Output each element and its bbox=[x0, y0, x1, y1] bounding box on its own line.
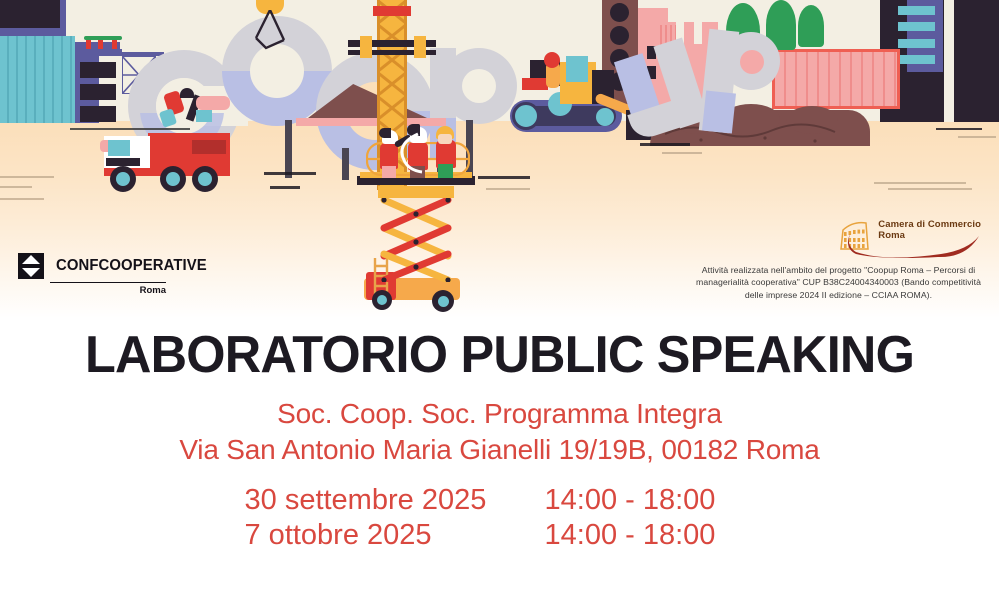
truck-window bbox=[108, 140, 130, 156]
ground-dash-1 bbox=[70, 128, 190, 130]
container-slot-3 bbox=[80, 106, 116, 122]
ground-dash-6 bbox=[640, 143, 690, 146]
ground-dash-8 bbox=[936, 128, 982, 130]
confcooperative-logo-row: CONFCOOPERATIVE bbox=[18, 253, 168, 279]
worker-in-c-box bbox=[196, 110, 212, 122]
camera-commercio-block: Camera di Commercio Roma Attività realiz… bbox=[696, 218, 981, 301]
porthole-2 bbox=[610, 26, 629, 45]
excavator-hood bbox=[566, 56, 588, 82]
truck-bed-detail bbox=[192, 140, 226, 154]
worker-3-face bbox=[438, 134, 452, 144]
confcooperative-sub: Roma bbox=[50, 285, 166, 296]
lift-wheel-rear-hub bbox=[438, 296, 449, 307]
session-time: 14:00 - 18:00 bbox=[545, 484, 755, 517]
truck-wheel-1-hub bbox=[116, 172, 130, 186]
truck-wheel-3-hub bbox=[198, 172, 212, 186]
ground-dash-2 bbox=[264, 172, 316, 175]
container-slot-2 bbox=[80, 84, 116, 100]
operator-head bbox=[544, 52, 560, 68]
letter-o1-hole bbox=[250, 44, 304, 98]
ground-dash-13 bbox=[0, 186, 32, 188]
confcooperative-name: CONFCOOPERATIVE bbox=[56, 257, 207, 275]
container-wall-teal bbox=[0, 36, 75, 123]
camera-commercio-swoosh-icon bbox=[846, 234, 981, 258]
truck-wheel-2-hub bbox=[166, 172, 180, 186]
worker-3-legs bbox=[438, 164, 453, 178]
project-disclaimer: Attività realizzata nell'ambito del prog… bbox=[696, 264, 981, 301]
venue-line-1: Soc. Coop. Soc. Programma Integra bbox=[0, 396, 999, 432]
excavator-wheel-big bbox=[512, 102, 540, 130]
excavator-wheel-small bbox=[596, 108, 614, 126]
letter-post-2 bbox=[342, 148, 349, 180]
crane-jib-block2 bbox=[414, 36, 426, 58]
logo-rule bbox=[50, 282, 166, 283]
ground-dash-7 bbox=[662, 152, 702, 154]
skyline-balcony-1 bbox=[898, 6, 935, 15]
letter-p-up-shade bbox=[702, 91, 736, 134]
worker-in-c-arm bbox=[196, 96, 230, 110]
ground-dash-5 bbox=[486, 188, 530, 190]
ground-dash-12 bbox=[0, 176, 54, 178]
session-time: 14:00 - 18:00 bbox=[545, 519, 755, 552]
schedule-block: 30 settembre 2025 14:00 - 18:00 7 ottobr… bbox=[0, 484, 999, 552]
lift-platform-base bbox=[378, 186, 454, 198]
warehouse-facade-dark bbox=[0, 3, 62, 28]
crane-collar-red bbox=[373, 6, 411, 16]
page-title: LABORATORIO PUBLIC SPEAKING bbox=[15, 325, 984, 385]
ground-dash-4 bbox=[478, 176, 530, 179]
pink-wall-right bbox=[772, 49, 900, 109]
scissor-mechanism-icon bbox=[378, 196, 454, 282]
letter-p-bowl-hole bbox=[462, 69, 496, 103]
skyline-balcony-4 bbox=[898, 55, 935, 64]
warehouse-edge bbox=[60, 0, 66, 32]
confcooperative-logo: CONFCOOPERATIVE Roma bbox=[18, 253, 168, 296]
worker-in-c-helmet bbox=[180, 88, 194, 98]
crane-sling-icon bbox=[250, 10, 306, 50]
ground-dash-11 bbox=[888, 188, 972, 190]
worker-1-hair bbox=[379, 128, 391, 138]
worker-2-hose-icon bbox=[392, 132, 426, 176]
excavator-seat bbox=[522, 78, 548, 90]
truck-accent bbox=[100, 140, 108, 152]
dirt-hill-base bbox=[296, 118, 446, 126]
letter-p-up-hole bbox=[740, 50, 764, 74]
ledge-base bbox=[80, 49, 122, 55]
porthole-1 bbox=[610, 3, 629, 22]
crane-jib-block bbox=[360, 36, 372, 58]
skyline-balcony-3 bbox=[898, 39, 935, 48]
container-slot-1 bbox=[80, 62, 116, 78]
truck-grille bbox=[106, 158, 140, 166]
lift-wheel-front-hub bbox=[377, 295, 387, 305]
session-date: 30 settembre 2025 bbox=[245, 484, 545, 517]
skyline-balcony-2 bbox=[898, 22, 935, 31]
session-date: 7 ottobre 2025 bbox=[245, 519, 545, 552]
venue-line-2: Via San Antonio Maria Gianelli 19/19B, 0… bbox=[0, 432, 999, 468]
venue-block: Soc. Coop. Soc. Programma Integra Via Sa… bbox=[0, 396, 999, 468]
pink-tower-notch-2 bbox=[694, 22, 702, 44]
ground-dash-9 bbox=[958, 136, 996, 138]
tree-right-3 bbox=[798, 5, 824, 47]
ground-dash-3 bbox=[270, 186, 300, 189]
schedule-grid: 30 settembre 2025 14:00 - 18:00 7 ottobr… bbox=[245, 484, 755, 552]
ground-dash-10 bbox=[874, 182, 966, 184]
skyline-gap-right bbox=[944, 0, 954, 122]
ground-dash-14 bbox=[0, 198, 44, 200]
confcooperative-mark-icon bbox=[18, 253, 44, 279]
letter-post-1 bbox=[285, 120, 292, 178]
skyline-tower-dark-far-right bbox=[954, 0, 999, 122]
event-poster: CONFCOOPERATIVE Roma bbox=[0, 0, 999, 600]
pink-tower-step bbox=[638, 8, 668, 26]
